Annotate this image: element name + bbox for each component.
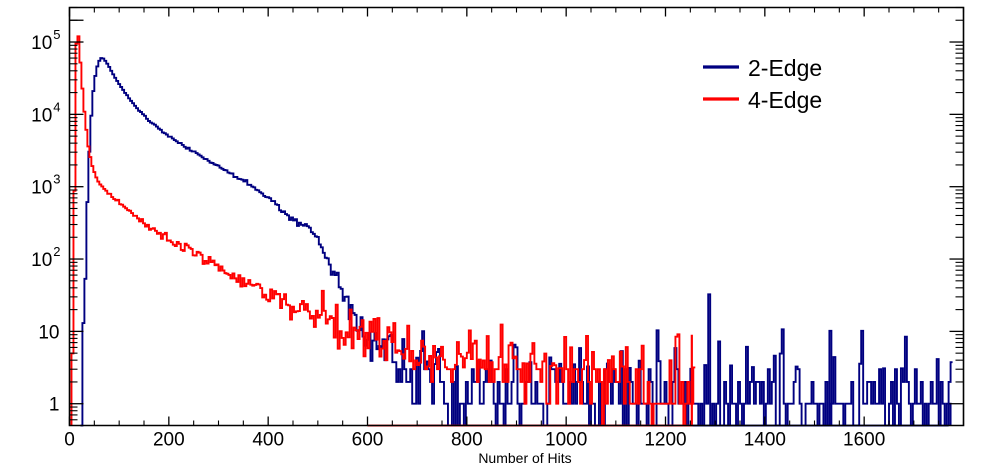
x-tick-label: 800 [451, 430, 483, 451]
histogram-plot: 0200400600800100012001400160011010210310… [0, 0, 996, 472]
svg-text:1: 1 [49, 395, 60, 416]
x-tick-label: 1400 [744, 430, 786, 451]
svg-text:3: 3 [53, 172, 60, 187]
x-tick-label: 1600 [843, 430, 885, 451]
svg-text:10: 10 [38, 322, 59, 343]
legend-label-2-edge: 2-Edge [748, 55, 822, 81]
plot-canvas: 0200400600800100012001400160011010210310… [0, 0, 996, 472]
x-tick-label: 0 [64, 430, 75, 451]
y-tick-label: 1 [49, 395, 60, 416]
x-tick-label: 200 [153, 430, 185, 451]
x-tick-label: 1200 [644, 430, 686, 451]
svg-text:4: 4 [53, 99, 60, 114]
svg-text:5: 5 [53, 27, 60, 42]
x-tick-label: 600 [352, 430, 384, 451]
svg-text:2: 2 [53, 244, 60, 259]
svg-text:10: 10 [31, 250, 52, 271]
svg-text:10: 10 [31, 33, 52, 54]
y-tick-label: 10 [38, 322, 59, 343]
legend-label-4-edge: 4-Edge [748, 87, 822, 113]
x-tick-label: 1000 [545, 430, 587, 451]
svg-text:10: 10 [31, 105, 52, 126]
x-tick-label: 400 [252, 430, 284, 451]
x-axis-title: Number of Hits [478, 450, 571, 466]
svg-text:10: 10 [31, 178, 52, 199]
